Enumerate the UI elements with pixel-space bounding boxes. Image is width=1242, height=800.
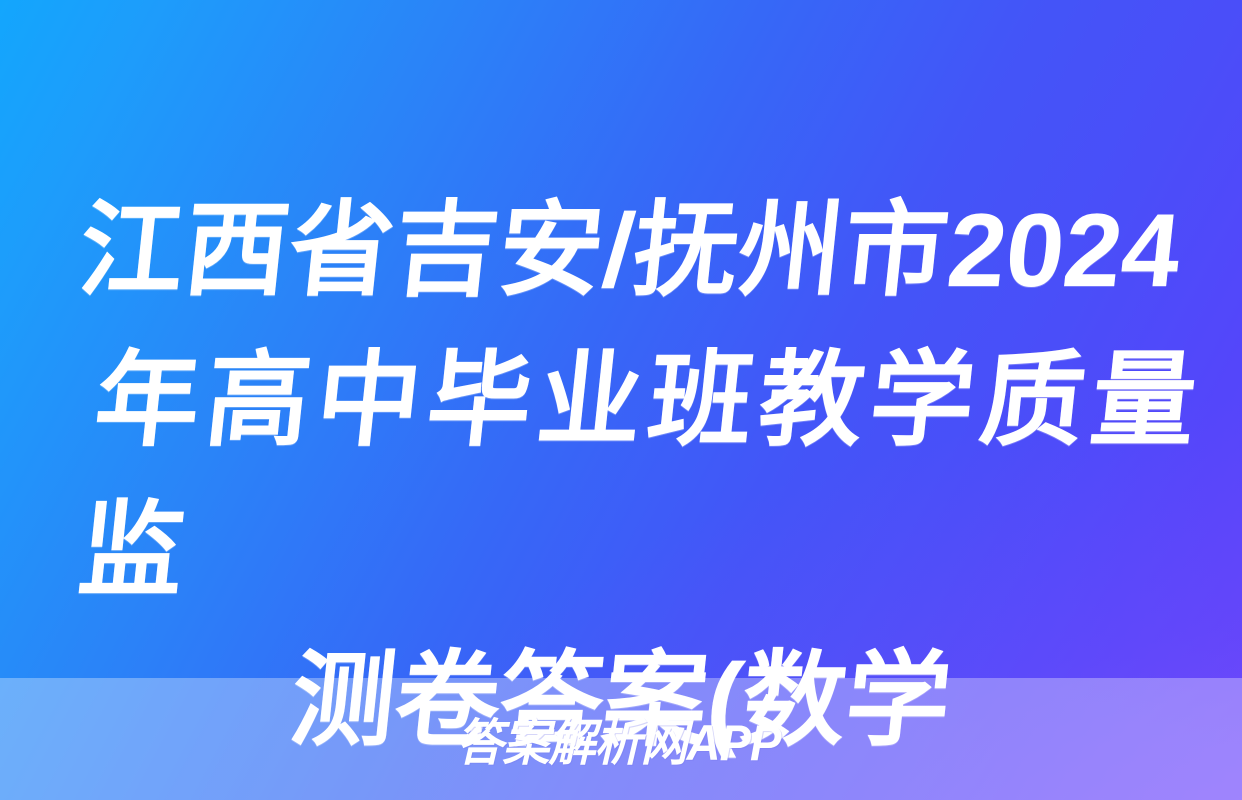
title-line-1: 江西省吉安/抚州市2024	[72, 176, 1188, 326]
answer-cover-card: 江西省吉安/抚州市2024 年高中毕业班教学质量监 测卷答案(数学 答案解析网A…	[0, 0, 1242, 800]
title-line-2: 年高中毕业班教学质量监	[72, 326, 1204, 626]
watermark-app-label: 答案解析网APP	[456, 703, 780, 775]
watermark-band: 答案解析网APP	[0, 678, 1242, 800]
